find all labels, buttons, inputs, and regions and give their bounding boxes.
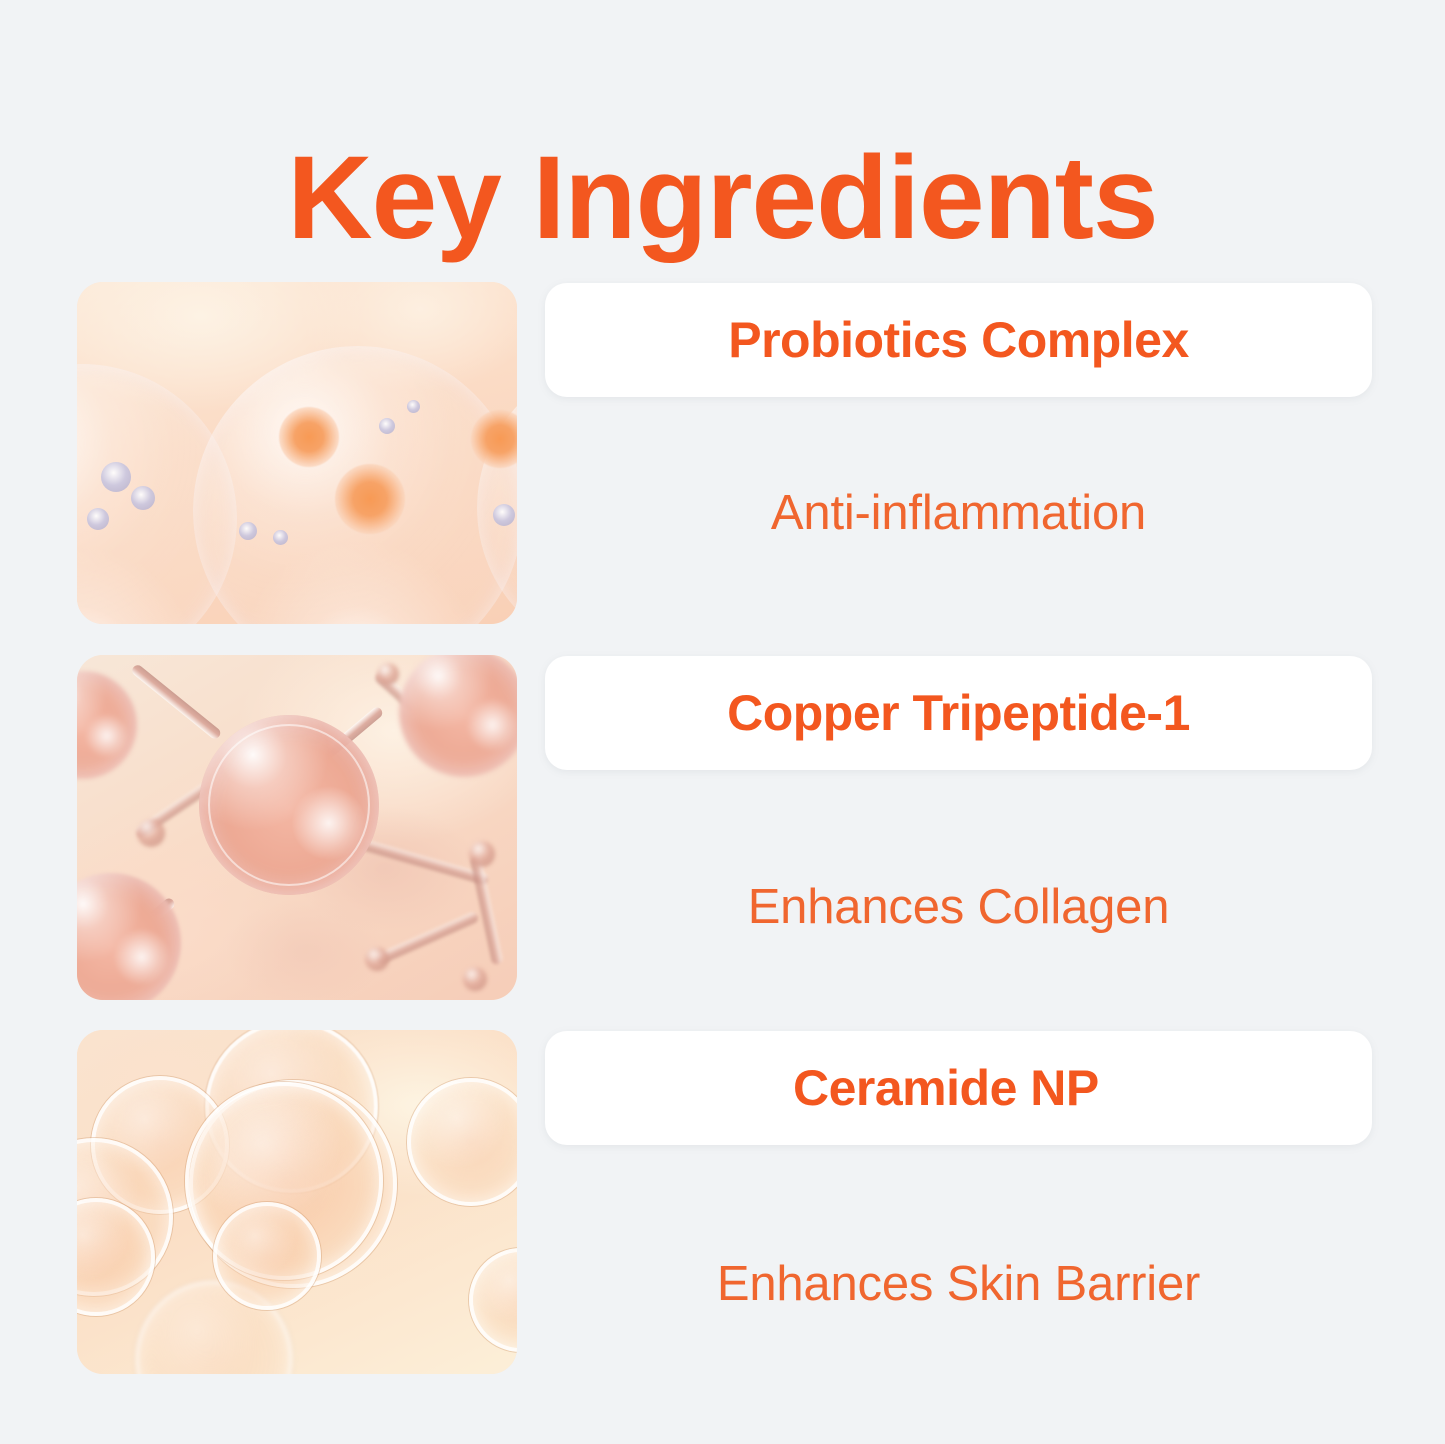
ingredient-benefit: Enhances Collagen (545, 883, 1372, 932)
molecule-node (365, 947, 389, 971)
micro-particle (101, 462, 131, 492)
probiotic-granule (335, 464, 405, 534)
micro-particle (407, 400, 420, 413)
ingredient-text-column: Probiotics Complex Anti-inflammation (545, 282, 1372, 624)
page-title: Key Ingredients (0, 137, 1445, 261)
micro-particle (239, 522, 257, 540)
micro-particle (379, 418, 395, 434)
ingredient-row: Ceramide NP Enhances Skin Barrier (0, 1030, 1445, 1374)
ingredient-name-card: Ceramide NP (545, 1031, 1372, 1145)
ingredient-row: Copper Tripeptide-1 Enhances Collagen (0, 655, 1445, 1000)
ingredient-name-card: Probiotics Complex (545, 283, 1372, 397)
ingredient-text-column: Ceramide NP Enhances Skin Barrier (545, 1030, 1372, 1374)
ingredient-image-probiotics (77, 282, 517, 624)
ingredient-benefit: Anti-inflammation (545, 489, 1372, 538)
molecule-node (469, 841, 495, 867)
micro-particle (273, 530, 288, 545)
ingredient-image-copper-tripeptide (77, 655, 517, 1000)
micro-particle (131, 486, 155, 510)
ingredient-name: Probiotics Complex (728, 315, 1189, 365)
key-ingredients-page: Key Ingredients Probiotics Complex Anti-… (0, 0, 1445, 1444)
molecule-node (137, 819, 165, 847)
ingredient-name: Copper Tripeptide-1 (727, 688, 1190, 738)
molecule-node (377, 663, 399, 685)
ingredient-benefit: Enhances Skin Barrier (545, 1260, 1372, 1309)
probiotic-granule (279, 407, 339, 467)
ingredient-text-column: Copper Tripeptide-1 Enhances Collagen (545, 655, 1372, 1000)
ingredient-name: Ceramide NP (793, 1063, 1099, 1113)
micro-particle (493, 504, 515, 526)
ingredient-name-card: Copper Tripeptide-1 (545, 656, 1372, 770)
bubble-ring (213, 1202, 321, 1310)
molecule-sphere-main (199, 715, 379, 895)
molecule-node (463, 967, 487, 991)
ingredient-row: Probiotics Complex Anti-inflammation (0, 282, 1445, 624)
ingredient-image-ceramide (77, 1030, 517, 1374)
micro-particle (87, 508, 109, 530)
